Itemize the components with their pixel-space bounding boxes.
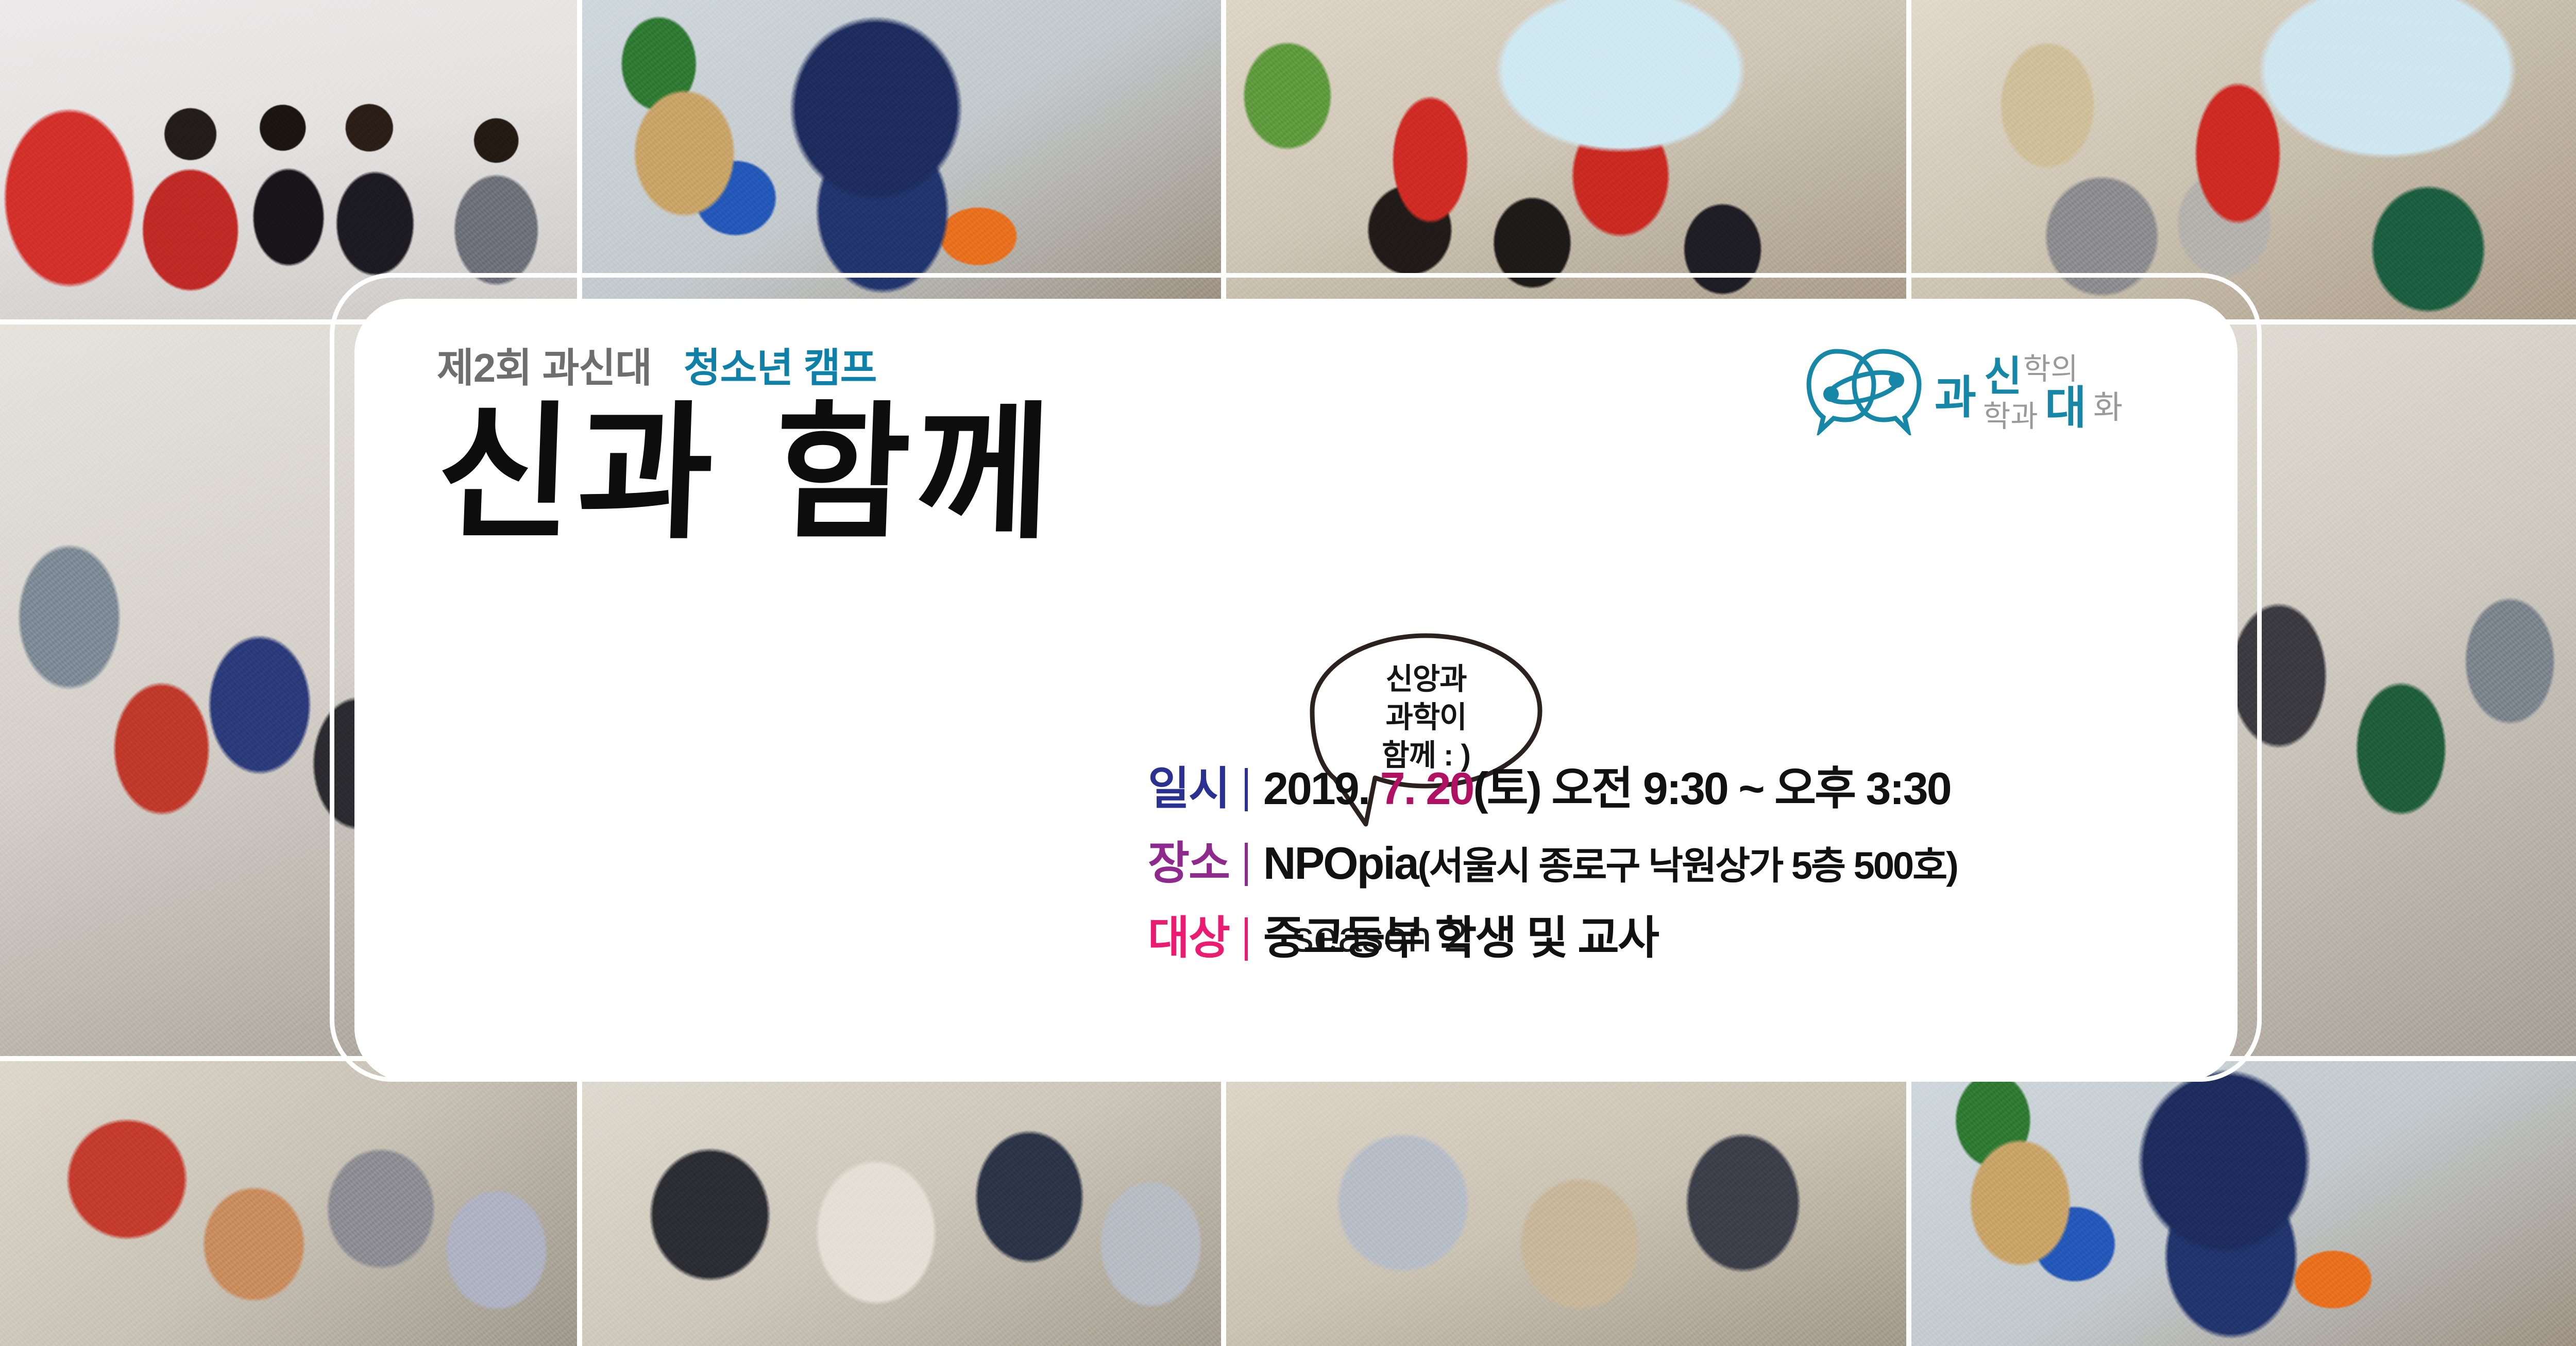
- detail-separator-date: [1245, 768, 1248, 811]
- detail-row-date: 일시 2019. 7. 20(토) 오전 9:30 ~ 오후 3:30: [1148, 752, 1957, 817]
- collage-photo-5: [1911, 0, 2576, 319]
- collage-photo-9b: [582, 1061, 1221, 1346]
- organization-logo: 과 신 학의 학과 대 화: [1805, 331, 2160, 449]
- detail-label-venue: 장소: [1148, 827, 1229, 892]
- svg-text:학과: 학과: [1983, 399, 2038, 434]
- detail-value-venue: NPOpia(서울시 종로구 낙원상가 5층 500호): [1263, 835, 1957, 890]
- svg-text:대: 대: [2045, 381, 2087, 434]
- date-prefix: 2019.: [1263, 763, 1369, 814]
- collage-photo-2: [582, 0, 1221, 319]
- eyebrow-prefix: 제2회 과신대: [437, 345, 652, 390]
- detail-label-audience: 대상: [1148, 901, 1229, 967]
- date-highlight: 7. 20: [1380, 763, 1473, 814]
- collage-photo-4: [1226, 0, 1906, 319]
- detail-separator-venue: [1245, 843, 1248, 886]
- date-suffix: (토) 오전 9:30 ~ 오후 3:30: [1473, 763, 1950, 814]
- svg-text:과: 과: [1935, 371, 1976, 424]
- venue-address: (서울시 종로구 낙원상가 5층 500호): [1418, 844, 1957, 887]
- logo-wordmark: 과 신 학의 학과 대 화: [1933, 341, 2159, 439]
- collage-photo-10: [1226, 1061, 1906, 1346]
- detail-label-date: 일시: [1148, 752, 1229, 817]
- bubble-line-1: 신앙과: [1305, 660, 1547, 698]
- svg-text:신: 신: [1984, 352, 2022, 400]
- venue-name: NPOpia: [1263, 838, 1418, 889]
- svg-text:화: 화: [2093, 388, 2123, 426]
- info-card: 제2회 과신대 청소년 캠프 신과 함께 season 2 신앙과 과학이 함께…: [354, 299, 2238, 1082]
- two-speech-bubbles-atom-icon: [1805, 345, 1923, 435]
- detail-separator-audience: [1245, 917, 1248, 961]
- event-poster: 제2회 과신대 청소년 캠프 신과 함께 season 2 신앙과 과학이 함께…: [0, 0, 2576, 1346]
- collage-photo-11: [1911, 1061, 2576, 1346]
- bubble-line-2: 과학이: [1305, 698, 1547, 737]
- detail-value-audience: 중고등부 학생 및 교사: [1263, 901, 1658, 967]
- detail-row-venue: 장소 NPOpia(서울시 종로구 낙원상가 5층 500호): [1148, 827, 1957, 892]
- collage-photo-8: [0, 1061, 577, 1346]
- eyebrow-highlight: 청소년 캠프: [684, 345, 876, 390]
- collage-photo-1: [0, 0, 577, 319]
- detail-value-date: 2019. 7. 20(토) 오전 9:30 ~ 오후 3:30: [1263, 752, 1951, 817]
- detail-row-audience: 대상 중고등부 학생 및 교사: [1148, 901, 1957, 967]
- event-details: 일시 2019. 7. 20(토) 오전 9:30 ~ 오후 3:30 장소 N…: [1148, 752, 1957, 976]
